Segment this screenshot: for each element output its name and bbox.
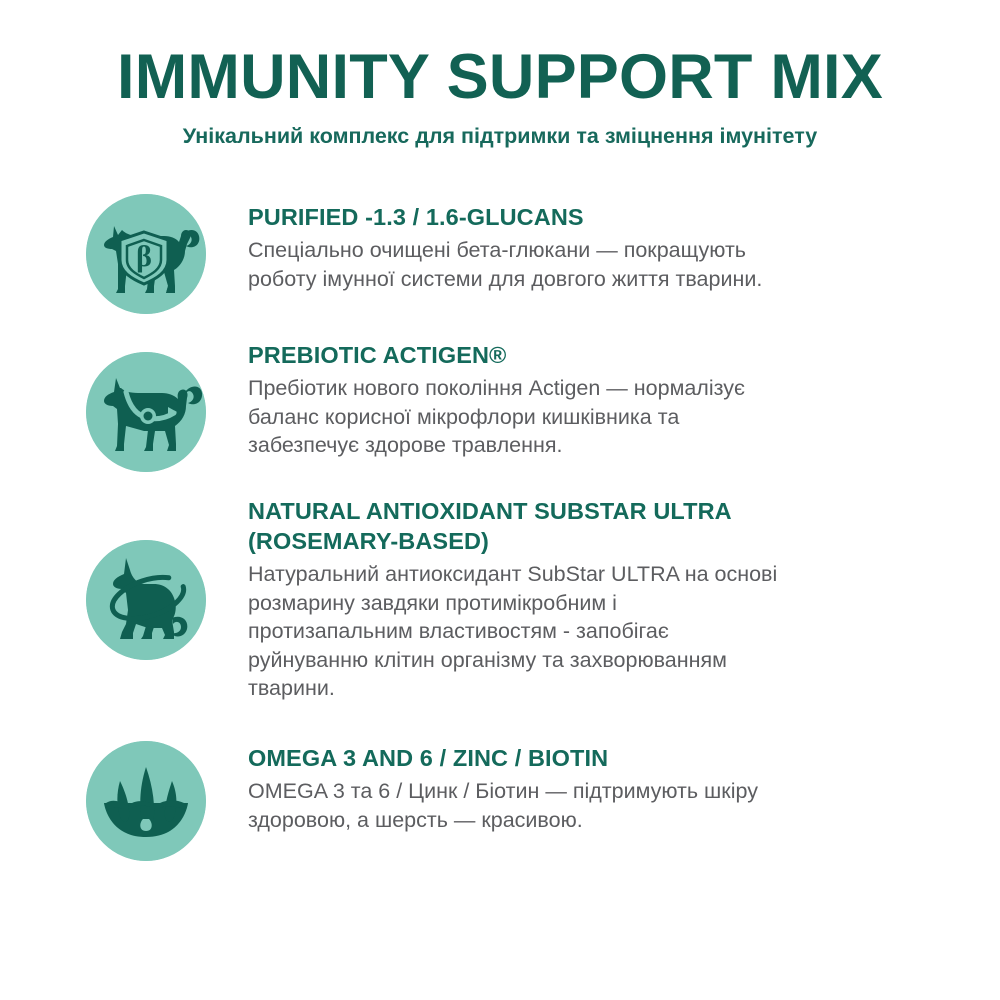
icon-wrapper bbox=[86, 352, 206, 472]
feature-title: NATURAL ANTIOXIDANT SUBSTAR ULTRA (ROSEM… bbox=[248, 496, 934, 556]
feature-text: PREBIOTIC ACTIGEN® Пребіотик нового поко… bbox=[206, 340, 1000, 460]
feature-item-prebiotic: PREBIOTIC ACTIGEN® Пребіотик нового поко… bbox=[0, 340, 1000, 472]
dog-with-digestive-arrow-icon bbox=[86, 352, 206, 472]
feature-text: NATURAL ANTIOXIDANT SUBSTAR ULTRA (ROSEM… bbox=[206, 496, 1000, 703]
feature-description: Натуральний антиоксидант SubStar ULTRA н… bbox=[248, 560, 934, 703]
feature-title: PREBIOTIC ACTIGEN® bbox=[248, 340, 934, 370]
feature-item-antioxidant: NATURAL ANTIOXIDANT SUBSTAR ULTRA (ROSEM… bbox=[0, 496, 1000, 703]
feature-text: OMEGA 3 AND 6 / ZINC / BIOTIN OMEGA 3 та… bbox=[206, 743, 1000, 834]
page-title: IMMUNITY SUPPORT MIX bbox=[0, 44, 1000, 110]
icon-wrapper bbox=[86, 540, 206, 660]
infographic-page: IMMUNITY SUPPORT MIX Унікальний комплекс… bbox=[0, 0, 1000, 1000]
feature-description: Пребіотик нового покоління Actigen — нор… bbox=[248, 374, 934, 460]
beta-symbol: β bbox=[136, 240, 152, 273]
page-subtitle: Унікальний комплекс для підтримки та змі… bbox=[0, 124, 1000, 150]
feature-description: Спеціально очищені бета-глюкани — покращ… bbox=[248, 236, 934, 293]
hair-follicles-icon bbox=[86, 741, 206, 861]
feature-item-omega: OMEGA 3 AND 6 / ZINC / BIOTIN OMEGA 3 та… bbox=[0, 731, 1000, 861]
header: IMMUNITY SUPPORT MIX Унікальний комплекс… bbox=[0, 0, 1000, 150]
icon-wrapper bbox=[86, 741, 206, 861]
feature-item-glucans: β PURIFIED -1.3 / 1.6-GLUCANS Спеціально… bbox=[0, 192, 1000, 314]
feature-title: OMEGA 3 AND 6 / ZINC / BIOTIN bbox=[248, 743, 934, 773]
feature-title: PURIFIED -1.3 / 1.6-GLUCANS bbox=[248, 202, 934, 232]
feature-description: OMEGA 3 та 6 / Цинк / Біотин — підтримую… bbox=[248, 777, 934, 834]
sitting-dog-with-orbit-icon bbox=[86, 540, 206, 660]
feature-text: PURIFIED -1.3 / 1.6-GLUCANS Спеціально о… bbox=[206, 202, 1000, 293]
feature-list: β PURIFIED -1.3 / 1.6-GLUCANS Спеціально… bbox=[0, 192, 1000, 861]
icon-wrapper: β bbox=[86, 194, 206, 314]
dog-with-beta-shield-icon: β bbox=[86, 194, 206, 314]
